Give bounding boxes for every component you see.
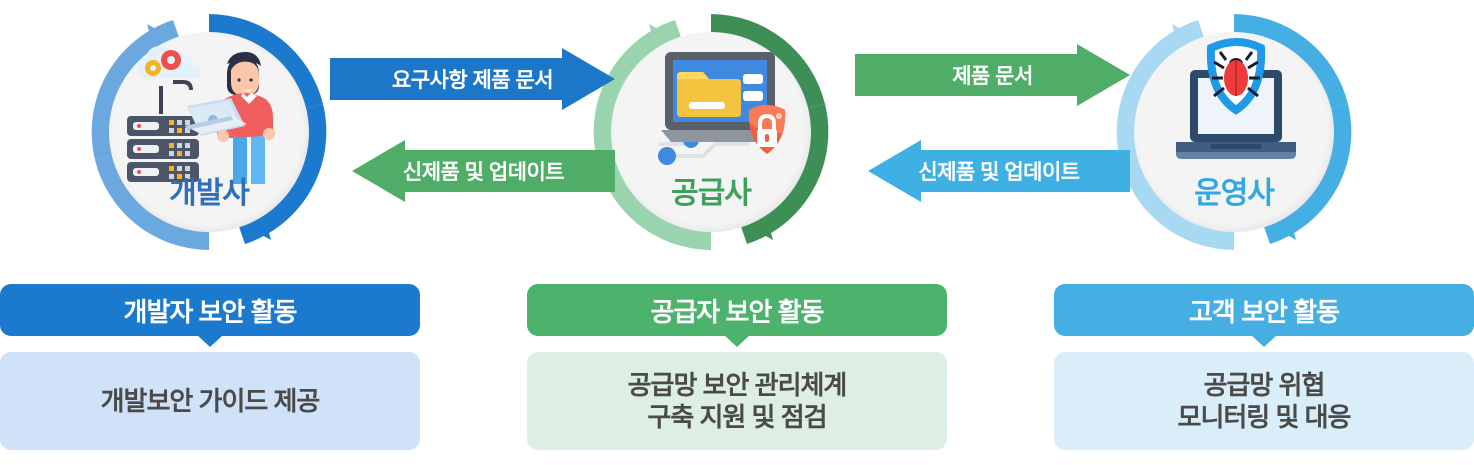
card-body-developer: 개발보안 가이드 제공 <box>0 352 420 450</box>
arrow-label-sup-to-ops: 제품 문서 <box>952 60 1033 90</box>
card-body-supplier: 공급망 보안 관리체계 구축 지원 및 점검 <box>527 352 947 450</box>
node-supplier[interactable]: 공급사 <box>587 8 835 256</box>
card-body-customer: 공급망 위협 모니터링 및 대응 <box>1054 352 1474 450</box>
card-body-line2-customer: 모니터링 및 대응 <box>1178 401 1351 434</box>
arrow-label-sup-to-dev: 신제품 및 업데이트 <box>403 156 564 186</box>
developer-illustration <box>109 34 309 184</box>
card-notch-supplier-icon <box>724 335 750 347</box>
card-body-line1-customer: 공급망 위협 <box>1204 370 1325 400</box>
node-label-operator: 운영사 <box>1134 168 1334 212</box>
card-supplier-activity[interactable]: 공급자 보안 활동 공급망 보안 관리체계 구축 지원 및 점검 <box>527 284 947 450</box>
card-header-label-customer: 고객 보안 활동 <box>1189 292 1339 329</box>
arrow-label-ops-to-sup: 신제품 및 업데이트 <box>918 156 1079 186</box>
node-developer[interactable]: 개발사 <box>85 8 333 256</box>
card-body-line2-supplier: 구축 지원 및 점검 <box>628 401 847 434</box>
arrow-sup-to-dev: 신제품 및 업데이트 <box>352 140 615 202</box>
card-header-label-developer: 개발자 보안 활동 <box>124 292 297 329</box>
supplier-illustration <box>611 34 811 184</box>
card-header-customer: 고객 보안 활동 <box>1054 284 1474 336</box>
card-header-supplier: 공급자 보안 활동 <box>527 284 947 336</box>
node-label-supplier: 공급사 <box>611 168 811 212</box>
card-notch-customer-icon <box>1251 335 1277 347</box>
arrow-sup-to-ops: 제품 문서 <box>855 44 1130 106</box>
card-header-developer: 개발자 보안 활동 <box>0 284 420 336</box>
arrow-ops-to-sup: 신제품 및 업데이트 <box>868 140 1130 202</box>
card-developer-activity[interactable]: 개발자 보안 활동 개발보안 가이드 제공 <box>0 284 420 450</box>
card-notch-developer-icon <box>197 335 223 347</box>
arrow-label-dev-to-sup: 요구사항 제품 문서 <box>392 64 553 94</box>
node-label-developer: 개발사 <box>109 168 309 212</box>
node-operator[interactable]: 운영사 <box>1110 8 1358 256</box>
supply-chain-security-diagram: 개발사 <box>0 0 1474 465</box>
card-customer-activity[interactable]: 고객 보안 활동 공급망 위협 모니터링 및 대응 <box>1054 284 1474 450</box>
operator-illustration <box>1134 34 1334 184</box>
card-body-line1-developer: 개발보안 가이드 제공 <box>101 386 320 416</box>
card-header-label-supplier: 공급자 보안 활동 <box>651 292 824 329</box>
card-body-line1-supplier: 공급망 보안 관리체계 <box>628 370 847 400</box>
arrow-dev-to-sup: 요구사항 제품 문서 <box>330 48 615 110</box>
